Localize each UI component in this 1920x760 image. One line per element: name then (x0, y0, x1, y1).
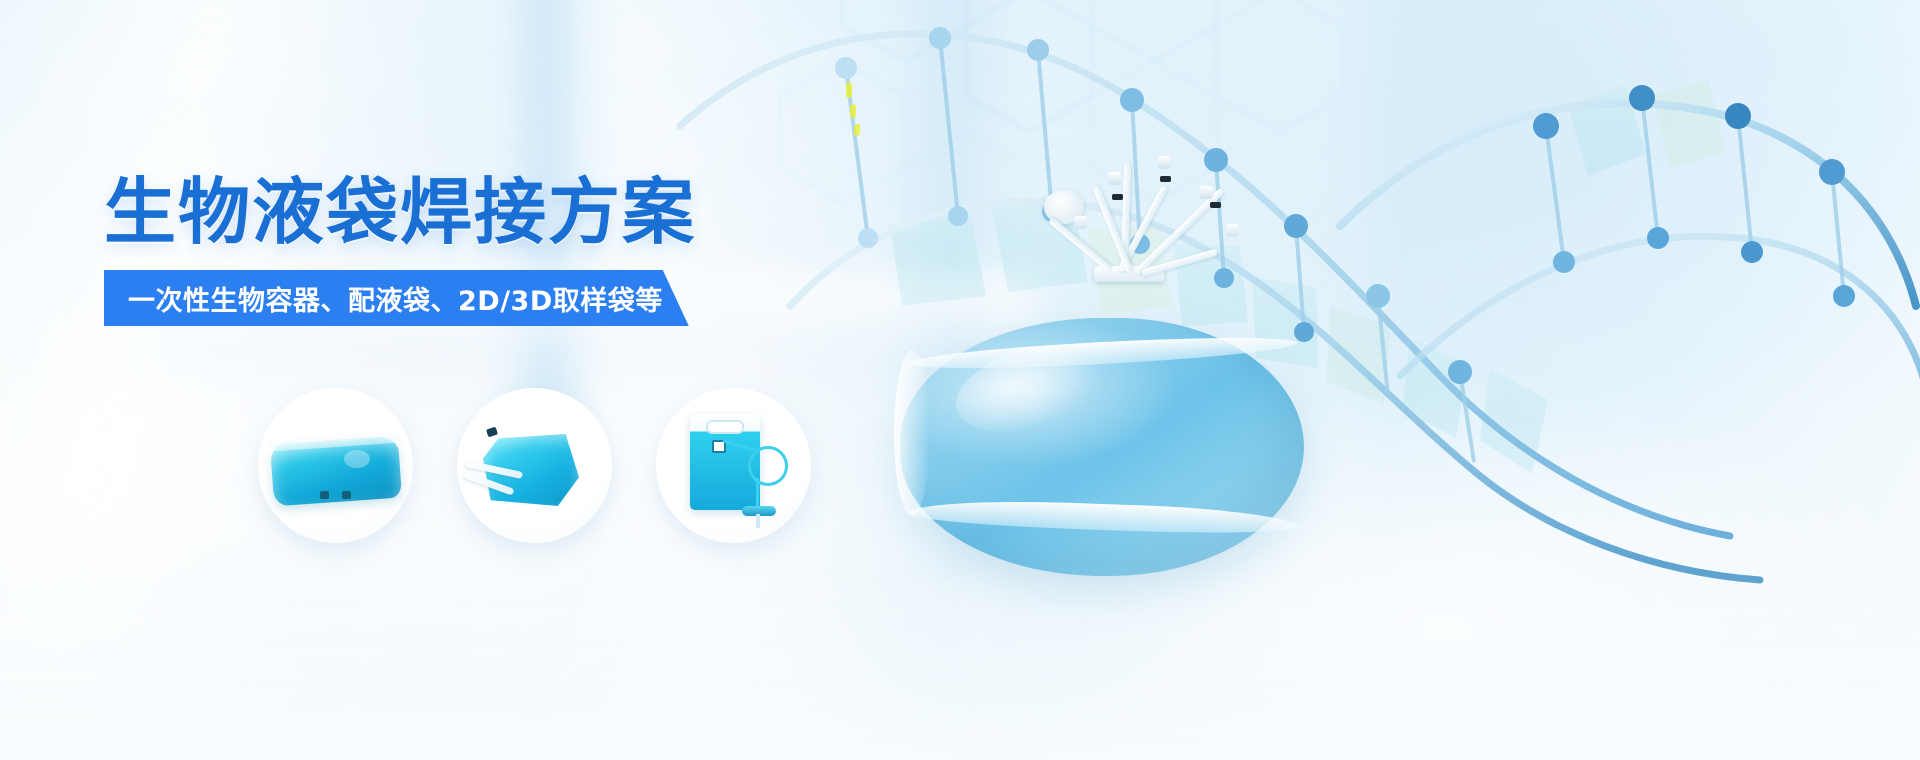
bioreactor-bag-edge-highlight (894, 350, 930, 516)
thumbnail-sampling-bag[interactable] (656, 388, 811, 543)
banner-text-block: 生物液袋焊接方案 一次性生物容器、配液袋、2D/3D取样袋等 (104, 176, 924, 326)
manifold-connector (1108, 172, 1121, 185)
bioreactor-bag (900, 296, 1304, 596)
manifold-clamp (1112, 194, 1123, 200)
manifold-clamp (1210, 202, 1221, 208)
manifold-connector (1158, 156, 1171, 169)
hero-banner: 生物液袋焊接方案 一次性生物容器、配液袋、2D/3D取样袋等 (0, 0, 1920, 760)
manifold-connector (1226, 224, 1239, 237)
subtitle-wrapper: 一次性生物容器、配液袋、2D/3D取样袋等 (104, 270, 924, 326)
tube-manifold-assembly (1050, 98, 1280, 308)
sampling-bag-icon (656, 388, 811, 543)
page-title: 生物液袋焊接方案 (104, 176, 924, 248)
thumbnail-pillow-2d-bag[interactable] (258, 388, 413, 543)
cube-3d-bag-icon (457, 388, 612, 543)
background-bottom-fade (0, 562, 1920, 760)
pillow-2d-bag-icon (258, 388, 413, 543)
manifold-connector (1074, 216, 1087, 229)
product-thumbnail-list (258, 388, 811, 543)
manifold-connector (1200, 186, 1213, 199)
thumbnail-cube-3d-bag[interactable] (457, 388, 612, 543)
subtitle-ribbon: 一次性生物容器、配液袋、2D/3D取样袋等 (104, 270, 689, 326)
manifold-clamp (1160, 176, 1171, 182)
